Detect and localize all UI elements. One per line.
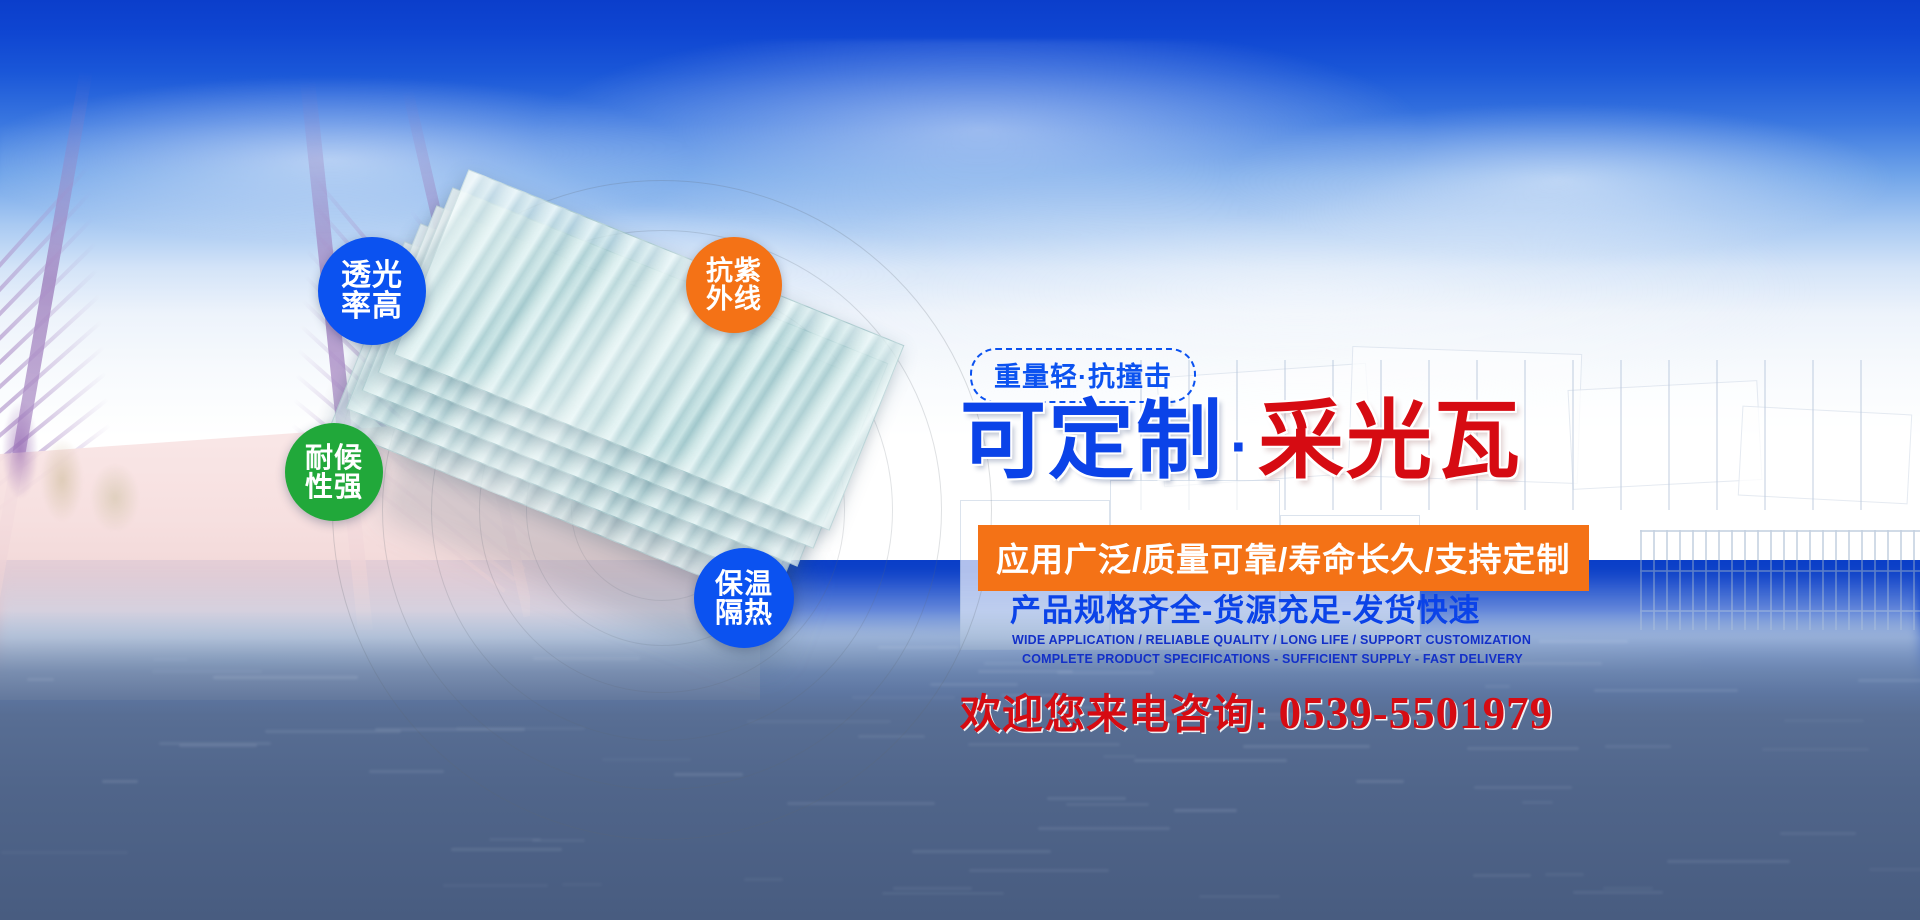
english-line-2: COMPLETE PRODUCT SPECIFICATIONS - SUFFIC… [1022, 652, 1523, 666]
foreground-plants [0, 330, 180, 530]
contact-line[interactable]: 欢迎您来电咨询:0539-5501979 [960, 680, 1553, 740]
weather-badge-line-1: 耐候 [305, 443, 363, 472]
uv-badge-line-2: 外线 [706, 285, 762, 313]
marketing-copy-block: 重量轻·抗撞击 可定制·采光瓦 应用广泛/质量可靠/寿命长久/支持定制 产品规格… [960, 340, 1660, 770]
insulation-badge[interactable]: 保温 隔热 [694, 548, 794, 648]
weather-badge-line-2: 性强 [305, 472, 363, 501]
weather-badge[interactable]: 耐候 性强 [285, 423, 383, 521]
corrugated-translucent-roof-sheets [350, 230, 910, 650]
insulation-badge-line-1: 保温 [715, 569, 773, 598]
uv-badge[interactable]: 抗紫 外线 [686, 237, 782, 333]
page-title: 可定制·采光瓦 [960, 398, 1522, 484]
contact-label: 欢迎您来电咨询: [960, 691, 1269, 737]
transparency-badge[interactable]: 透光 率高 [318, 237, 426, 345]
headline-separator: · [1224, 413, 1258, 480]
promo-banner: 透光 率高 耐候 性强 抗紫 外线 保温 隔热 重量轻·抗撞击 可定制·采光瓦 … [0, 0, 1920, 920]
english-line-1: WIDE APPLICATION / RELIABLE QUALITY / LO… [1012, 633, 1531, 647]
insulation-badge-line-2: 隔热 [715, 598, 773, 627]
feature-strip: 应用广泛/质量可靠/寿命长久/支持定制 [978, 525, 1589, 591]
transparency-badge-line-1: 透光 [341, 260, 403, 291]
subline-post: -发货快速 [1341, 593, 1480, 628]
headline-product: 采光瓦 [1258, 393, 1522, 489]
subline-pre: 产品规格齐全- [1010, 593, 1213, 628]
subline-strong: 货源充足 [1213, 593, 1341, 628]
uv-badge-line-1: 抗紫 [706, 257, 762, 285]
phone-number: 0539-5501979 [1269, 688, 1554, 738]
transparency-badge-line-2: 率高 [341, 291, 403, 322]
headline-customizable: 可定制 [960, 393, 1224, 489]
supply-subline: 产品规格齐全-货源充足-发货快速 [1010, 585, 1481, 630]
